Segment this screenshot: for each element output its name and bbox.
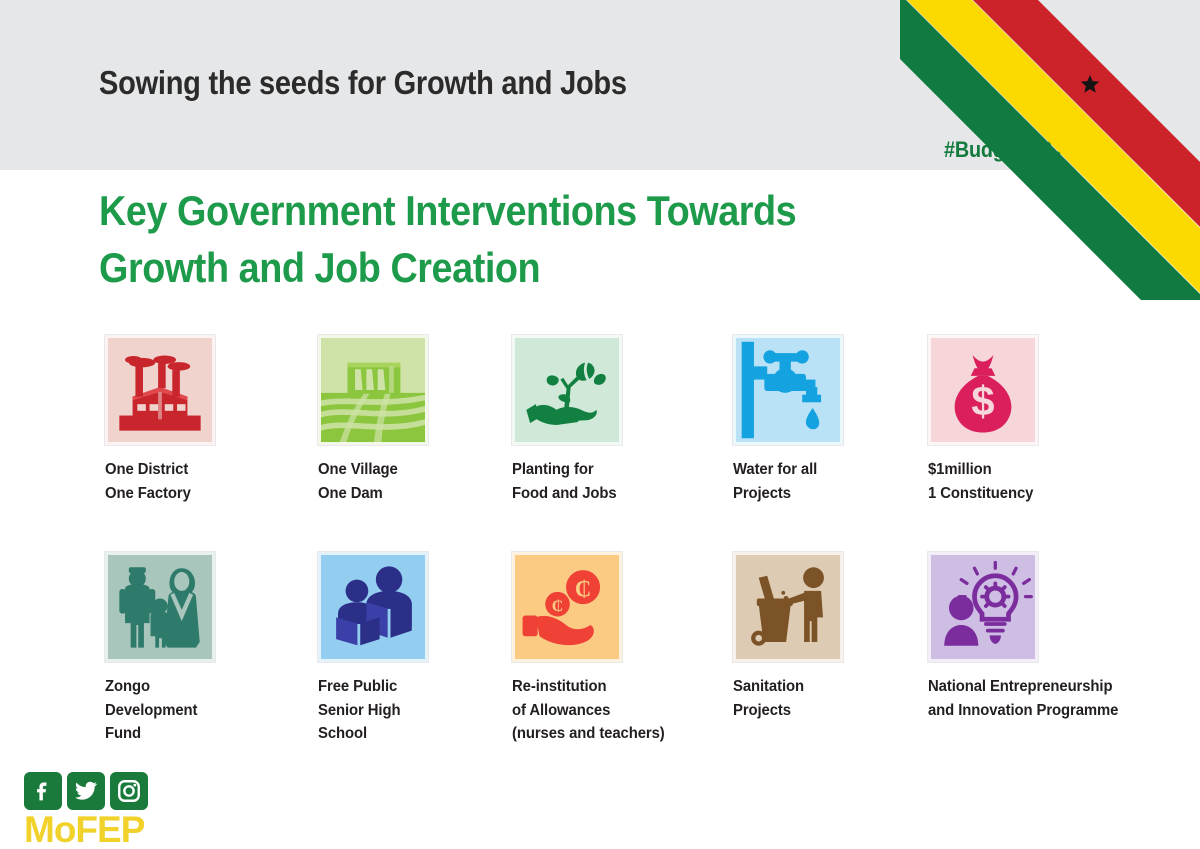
- intervention-item-zongo-development-fund[interactable]: Zongo Development Fund: [105, 552, 215, 746]
- mofep-wordmark: MoFEP: [24, 811, 148, 849]
- intervention-label: Zongo Development Fund: [105, 675, 211, 746]
- twitter-button[interactable]: [67, 772, 105, 810]
- intervention-label: $1million 1 Constituency: [928, 458, 1034, 505]
- intervention-item-one-million-one-constituency[interactable]: $ $1million 1 Constituency: [928, 335, 1038, 505]
- poster-canvas: Sowing the seeds for Growth and Jobs #Bu…: [0, 0, 1200, 849]
- intervention-label: Free Public Senior High School: [318, 675, 424, 746]
- instagram-button[interactable]: [110, 772, 148, 810]
- footer-branding: MoFEP: [24, 772, 148, 849]
- lightbulb-person-icon: [928, 552, 1038, 662]
- waste-bin-icon: [733, 552, 843, 662]
- intervention-label: Water for all Projects: [733, 458, 839, 505]
- social-links: [24, 772, 148, 810]
- svg-text:₵: ₵: [552, 598, 564, 615]
- hand-coins-icon: ₵ ₵: [512, 552, 622, 662]
- family-icon: [105, 552, 215, 662]
- intervention-label: Sanitation Projects: [733, 675, 839, 722]
- svg-text:$: $: [971, 378, 994, 425]
- factory-icon: [105, 335, 215, 445]
- seedling-hand-icon: [512, 335, 622, 445]
- intervention-item-planting-for-food-and-jobs[interactable]: Planting for Food and Jobs: [512, 335, 622, 505]
- intervention-item-water-for-all-projects[interactable]: Water for all Projects: [733, 335, 843, 505]
- intervention-item-free-public-senior-high-school[interactable]: Free Public Senior High School: [318, 552, 428, 746]
- intervention-item-one-district-one-factory[interactable]: One District One Factory: [105, 335, 215, 505]
- intervention-grid: One District One Factory: [0, 0, 1200, 849]
- intervention-item-national-entrepreneurship-and-innovation-programme[interactable]: National Entrepreneurship and Innovation…: [928, 552, 1126, 722]
- intervention-label: National Entrepreneurship and Innovation…: [928, 675, 1118, 722]
- intervention-item-sanitation-projects[interactable]: Sanitation Projects: [733, 552, 843, 722]
- money-bag-icon: $: [928, 335, 1038, 445]
- intervention-label: Planting for Food and Jobs: [512, 458, 618, 505]
- intervention-item-re-institution-of-allowances[interactable]: ₵ ₵ Re-institution of Allowances (nurses…: [512, 552, 671, 746]
- intervention-label: One District One Factory: [105, 458, 211, 505]
- students-reading-icon: [318, 552, 428, 662]
- instagram-icon: [116, 778, 142, 804]
- facebook-icon: [30, 778, 56, 804]
- dam-icon: [318, 335, 428, 445]
- intervention-label: Re-institution of Allowances (nurses and…: [512, 675, 665, 746]
- svg-text:₵: ₵: [575, 577, 591, 602]
- facebook-button[interactable]: [24, 772, 62, 810]
- intervention-item-one-village-one-dam[interactable]: One Village One Dam: [318, 335, 428, 505]
- water-tap-icon: [733, 335, 843, 445]
- intervention-label: One Village One Dam: [318, 458, 424, 505]
- twitter-icon: [73, 778, 99, 804]
